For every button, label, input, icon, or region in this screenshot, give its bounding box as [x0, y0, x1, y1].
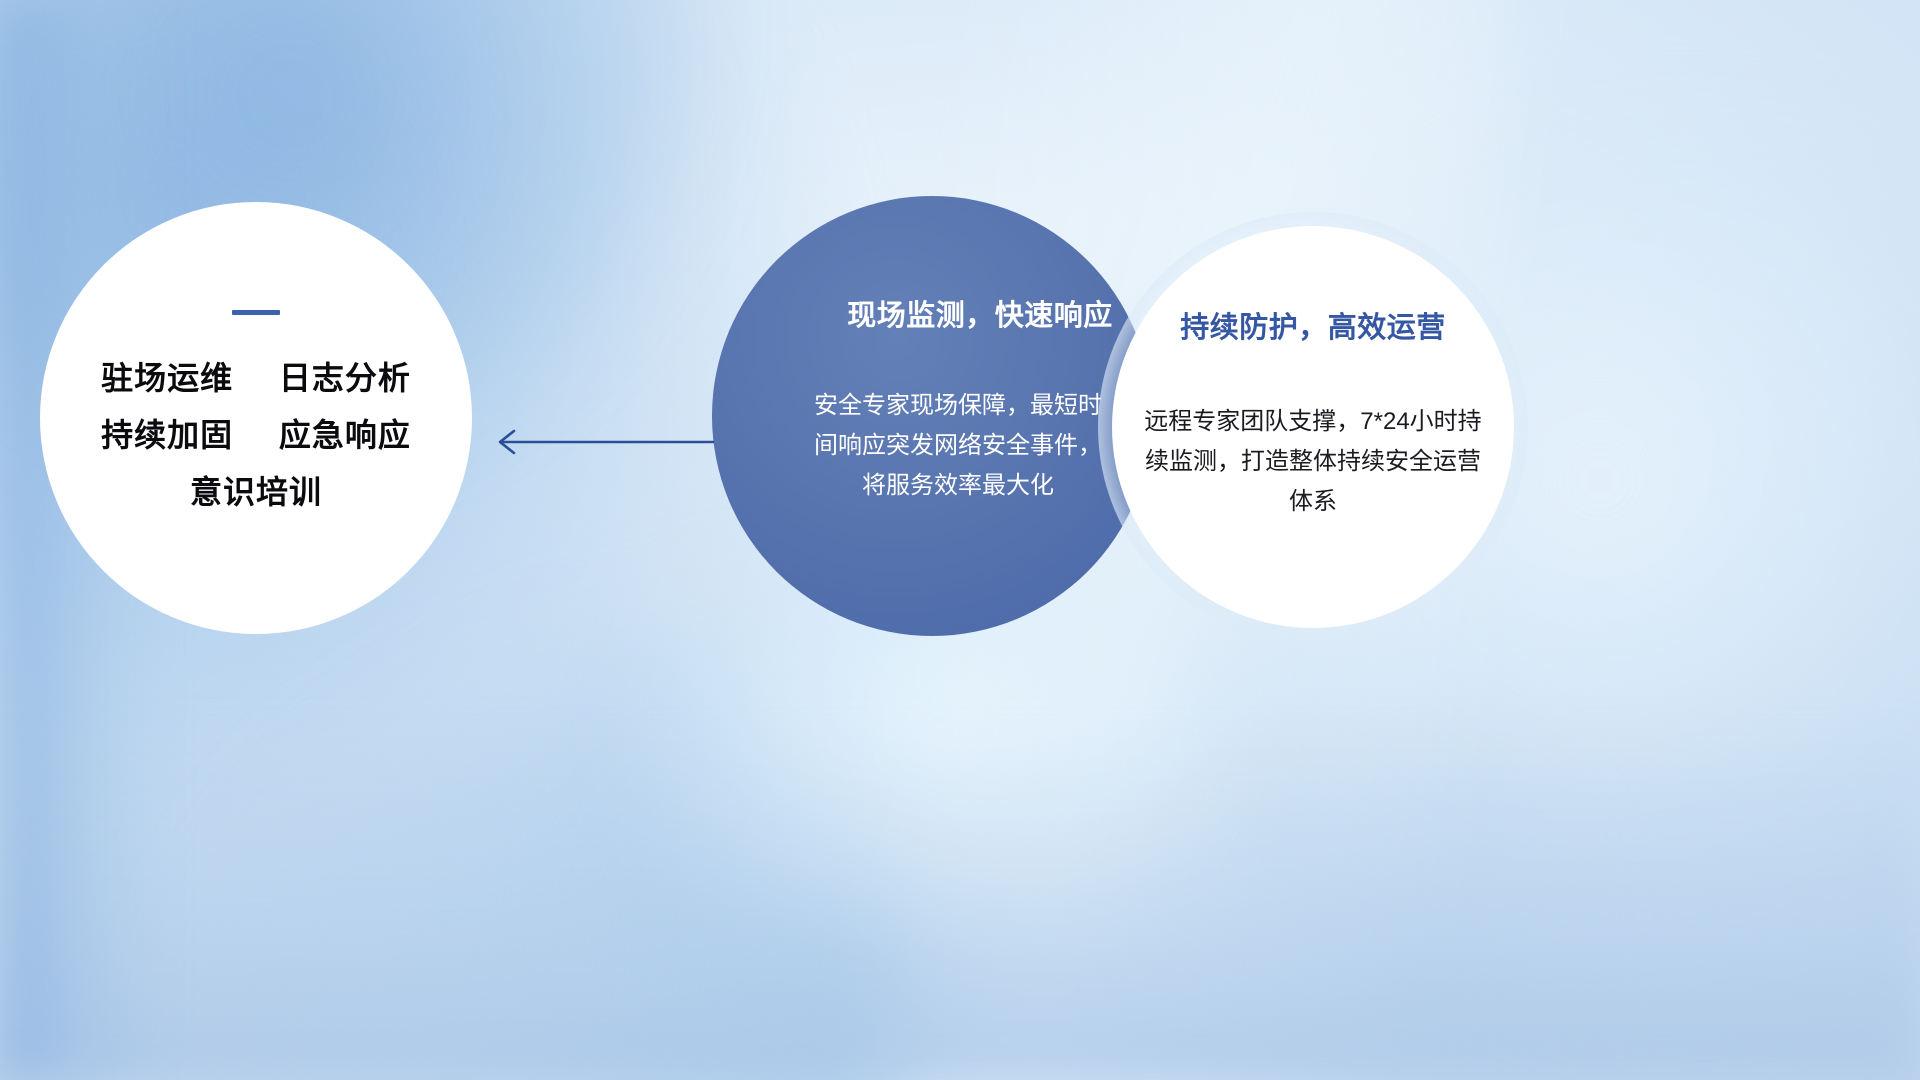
keyword-label: 日志分析 — [279, 360, 411, 396]
keyword-label: 持续加固 — [101, 417, 233, 453]
keyword-label: 意识培训 — [190, 474, 322, 510]
keyword-label: 驻场运维 — [101, 360, 233, 396]
left-circle-keyword-list: 驻场运维 日志分析 持续加固 应急响应 意识培训 — [101, 361, 411, 511]
background-bottom-shade — [0, 720, 1920, 1080]
middle-circle-body: 安全专家现场保障，最短时间响应突发网络安全事件，将服务效率最大化 — [813, 386, 1103, 506]
keyword-label: 应急响应 — [279, 417, 411, 453]
slide-canvas: 现场监测，快速响应 安全专家现场保障，最短时间响应突发网络安全事件，将服务效率最… — [0, 0, 1920, 1080]
right-circle-body: 远程专家团队支撑，7*24小时持续监测，打造整体持续安全运营体系 — [1138, 402, 1488, 522]
list-item: 意识培训 — [190, 475, 322, 510]
horizontal-dash-accent-icon — [232, 310, 280, 315]
middle-circle-node: 现场监测，快速响应 安全专家现场保障，最短时间响应突发网络安全事件，将服务效率最… — [712, 196, 1152, 636]
list-item: 驻场运维 日志分析 — [101, 361, 411, 396]
left-circle-node: 驻场运维 日志分析 持续加固 应急响应 意识培训 — [40, 202, 472, 634]
right-circle-node: 持续防护，高效运营 远程专家团队支撑，7*24小时持续监测，打造整体持续安全运营… — [1112, 226, 1514, 628]
right-circle-title: 持续防护，高效运营 — [1180, 304, 1446, 346]
arrow-left-icon — [486, 420, 716, 464]
middle-circle-title: 现场监测，快速响应 — [847, 292, 1113, 334]
middle-circle-content: 现场监测，快速响应 安全专家现场保障，最短时间响应突发网络安全事件，将服务效率最… — [712, 196, 1152, 636]
list-item: 持续加固 应急响应 — [101, 418, 411, 453]
